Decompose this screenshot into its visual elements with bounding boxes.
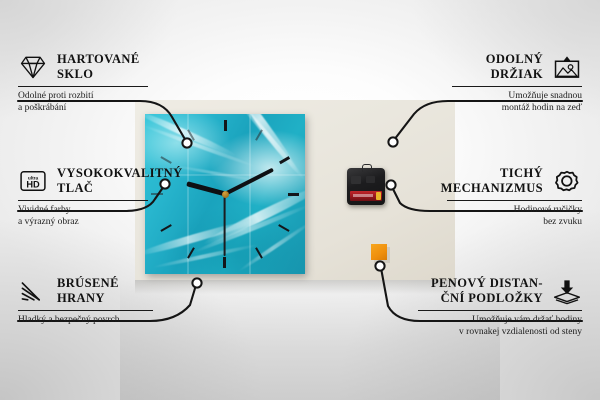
connector-node-right-2 — [386, 180, 395, 189]
feature-ground-edges: BRÚSENÉ HRANY Hladký a bezpečný povrch — [18, 276, 153, 326]
connector-node-left-3 — [192, 278, 201, 287]
feature-foam-spacers: PENOVÝ DISTAN- ČNÍ PODLOŽKY Umožňuje vám… — [418, 276, 582, 338]
feature-heading: PENOVÝ DISTAN- ČNÍ PODLOŽKY — [418, 276, 582, 306]
diamond-icon — [18, 53, 48, 81]
feature-title: VYSOKOKVALITNÝ TLAČ — [57, 166, 183, 196]
feature-heading: TICHÝ MECHANIZMUS — [447, 166, 582, 196]
feature-heading: ultra HD VYSOKOKVALITNÝ TLAČ — [18, 166, 148, 196]
feature-divider — [452, 86, 582, 87]
arrow-into-layers-icon — [552, 277, 582, 305]
feature-divider — [447, 200, 582, 201]
ground-edges-icon — [18, 277, 48, 305]
feature-heading: ODOLNÝ DRŽIAK — [452, 52, 582, 82]
feature-title: ODOLNÝ DRŽIAK — [486, 52, 543, 82]
feature-description: Odolné proti rozbití a poškrábání — [18, 90, 148, 114]
feature-divider — [18, 86, 148, 87]
infographic-canvas: HARTOVANÉ SKLO Odolné proti rozbití a po… — [0, 0, 600, 400]
feature-high-quality-print: ultra HD VYSOKOKVALITNÝ TLAČ Vividné far… — [18, 166, 148, 228]
feature-durable-holder: ODOLNÝ DRŽIAK Umožňuje snadnou montáž ho… — [452, 52, 582, 114]
feature-silent-mechanism: TICHÝ MECHANIZMUS Hodinové ručičky bez z… — [447, 166, 582, 228]
feature-description: Vividné farby a výrazný obraz — [18, 204, 148, 228]
feature-title: BRÚSENÉ HRANY — [57, 276, 119, 306]
feature-tempered-glass: HARTOVANÉ SKLO Odolné proti rozbití a po… — [18, 52, 148, 114]
feature-description: Umožňuje snadnou montáž hodin na zeď — [452, 90, 582, 114]
feature-divider — [418, 310, 582, 311]
connector-node-right-1 — [388, 137, 397, 146]
feature-title: PENOVÝ DISTAN- ČNÍ PODLOŽKY — [431, 276, 543, 306]
feature-heading: BRÚSENÉ HRANY — [18, 276, 153, 306]
ultra-hd-icon: ultra HD — [18, 167, 48, 195]
ultra-hd-icon-large-text: HD — [26, 180, 40, 190]
feature-title: TICHÝ MECHANIZMUS — [441, 166, 543, 196]
connector-node-left-1 — [182, 138, 191, 147]
feature-description: Hodinové ručičky bez zvuku — [447, 204, 582, 228]
feature-heading: HARTOVANÉ SKLO — [18, 52, 148, 82]
gear-icon — [552, 167, 582, 195]
picture-frame-icon — [552, 53, 582, 81]
feature-divider — [18, 310, 153, 311]
feature-divider — [18, 200, 148, 201]
feature-title: HARTOVANÉ SKLO — [57, 52, 140, 82]
feature-description: Umožňuje vám držať hodiny v rovnakej vzd… — [418, 314, 582, 338]
feature-description: Hladký a bezpečný povrch — [18, 314, 153, 326]
connector-node-right-3 — [375, 261, 384, 270]
